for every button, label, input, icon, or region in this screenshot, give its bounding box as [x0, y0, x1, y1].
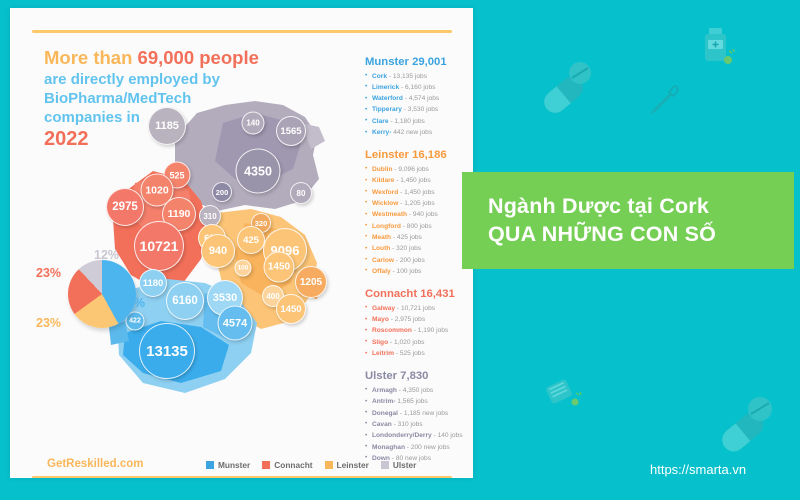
map-bubble: 1565	[276, 116, 306, 146]
region-list-item: Kildare - 1,450 jobs	[365, 175, 470, 186]
region-list-item: Wexford - 1,450 jobs	[365, 187, 470, 198]
medicine-bottle-icon	[700, 25, 742, 75]
region-list-item: Westmeath - 940 jobs	[365, 209, 470, 220]
map-bubble: 4350	[236, 149, 281, 194]
region-lists: Munster 29,001Cork - 13,135 jobsLimerick…	[365, 56, 470, 475]
map-bubble: 2975	[106, 188, 144, 226]
region-list-item: Sligo - 1,020 jobs	[365, 337, 470, 348]
pill-capsule-icon-2	[712, 395, 774, 458]
region-item-list: Galway - 10,721 jobsMayo - 2,975 jobsRos…	[365, 303, 470, 360]
legend-item-munster: Munster	[206, 460, 250, 470]
region-list-item: Antrim- 1,565 jobs	[365, 396, 470, 407]
region-list-item: Offaly - 100 jobs	[365, 266, 470, 277]
region-list-item: Clare - 1,180 jobs	[365, 116, 470, 127]
legend-label: Leinster	[337, 460, 369, 470]
region-list-item: Louth - 320 jobs	[365, 243, 470, 254]
legend-label: Connacht	[274, 460, 312, 470]
overlay-banner: Ngành Dược tại Cork QUA NHỮNG CON SỐ	[462, 172, 794, 269]
banner-line-1: Ngành Dược tại Cork	[488, 193, 794, 220]
region-list-item: Meath - 425 jobs	[365, 232, 470, 243]
region-list-item: Waterford - 4,574 jobs	[365, 93, 470, 104]
banner-line-2: QUA NHỮNG CON SỐ	[488, 221, 794, 248]
region-list-item: Armagh - 4,350 jobs	[365, 385, 470, 396]
region-block-munster: Munster 29,001Cork - 13,135 jobsLimerick…	[365, 56, 470, 138]
map-bubble: 425	[237, 226, 265, 254]
region-block-leinster: Leinster 16,186Dublin - 9,096 jobsKildar…	[365, 149, 470, 277]
map-bubble: 4574	[218, 306, 253, 341]
map-bubble: 140	[242, 112, 265, 135]
pill-capsule-icon	[535, 60, 595, 120]
map-bubble: 1450	[264, 252, 295, 283]
region-list-item: Londonderry/Derry - 140 jobs	[365, 430, 470, 441]
map-bubble: 1185	[148, 107, 186, 145]
region-list-item: Mayo - 2,975 jobs	[365, 314, 470, 325]
dropper-icon	[645, 80, 685, 125]
legend-label: Munster	[218, 460, 250, 470]
region-list-item: Longford - 800 jobs	[365, 221, 470, 232]
legend-item-leinster: Leinster	[325, 460, 369, 470]
region-item-list: Dublin - 9,096 jobsKildare - 1,450 jobsW…	[365, 164, 470, 277]
map-bubble: 200	[212, 182, 232, 202]
map-bubble: 80	[290, 182, 312, 204]
region-list-item: Carlow - 200 jobs	[365, 255, 470, 266]
region-item-list: Cork - 13,135 jobsLimerick - 6,160 jobsW…	[365, 71, 470, 139]
region-list-item: Monaghan - 200 new jobs	[365, 442, 470, 453]
pill-blister-icon	[545, 375, 585, 418]
region-heading-connacht: Connacht 16,431	[365, 288, 470, 300]
map-bubble: 940	[201, 234, 235, 268]
region-list-item: Donegal - 1,185 new jobs	[365, 408, 470, 419]
region-block-ulster: Ulster 7,830Armagh - 4,350 jobsAntrim- 1…	[365, 370, 470, 464]
region-block-connacht: Connacht 16,431Galway - 10,721 jobsMayo …	[365, 288, 470, 359]
legend-item-connacht: Connacht	[262, 460, 312, 470]
region-list-item: Limerick - 6,160 jobs	[365, 82, 470, 93]
region-list-item: Roscommon - 1,190 jobs	[365, 325, 470, 336]
map-bubble: 100	[235, 260, 252, 277]
region-list-item: Cork - 13,135 jobs	[365, 71, 470, 82]
legend-item-ulster: Ulster	[381, 460, 417, 470]
map-legend: MunsterConnachtLeinsterUlster	[206, 460, 416, 470]
legend-swatch	[381, 461, 389, 469]
pie-chart: 12% 23% 23% 42%	[30, 246, 150, 346]
map-bubble: 6160	[166, 282, 204, 320]
region-heading-leinster: Leinster 16,186	[365, 149, 470, 161]
legend-swatch	[325, 461, 333, 469]
region-list-item: Tipperary - 3,530 jobs	[365, 104, 470, 115]
pie-label-connacht: 23%	[36, 266, 61, 280]
infographic-card: More than 69,000 people are directly emp…	[10, 8, 473, 478]
pie-chart-circle	[68, 260, 136, 328]
watermark-url: https://smarta.vn	[650, 462, 746, 477]
region-heading-ulster: Ulster 7,830	[365, 370, 470, 382]
legend-label: Ulster	[393, 460, 417, 470]
region-item-list: Armagh - 4,350 jobsAntrim- 1,565 jobsDon…	[365, 385, 470, 464]
region-list-item: Galway - 10,721 jobs	[365, 303, 470, 314]
top-divider	[32, 30, 452, 33]
bottom-divider	[32, 476, 452, 478]
pie-label-munster: 42%	[120, 296, 145, 310]
map-bubble: 1205	[295, 266, 327, 298]
region-list-item: Dublin - 9,096 jobs	[365, 164, 470, 175]
legend-swatch	[262, 461, 270, 469]
region-list-item: Wicklow - 1,205 jobs	[365, 198, 470, 209]
brand-label: GetReskilled.com	[47, 458, 144, 470]
pie-label-ulster: 12%	[94, 248, 119, 262]
map-bubble: 1450	[276, 294, 306, 324]
region-heading-munster: Munster 29,001	[365, 56, 470, 68]
headline-line-1: More than 69,000 people	[44, 46, 344, 70]
region-list-item: Cavan - 310 jobs	[365, 419, 470, 430]
legend-swatch	[206, 461, 214, 469]
region-list-item: Kerry- 442 new jobs	[365, 127, 470, 138]
region-list-item: Leitrim - 525 jobs	[365, 348, 470, 359]
pie-label-leinster: 23%	[36, 316, 61, 330]
